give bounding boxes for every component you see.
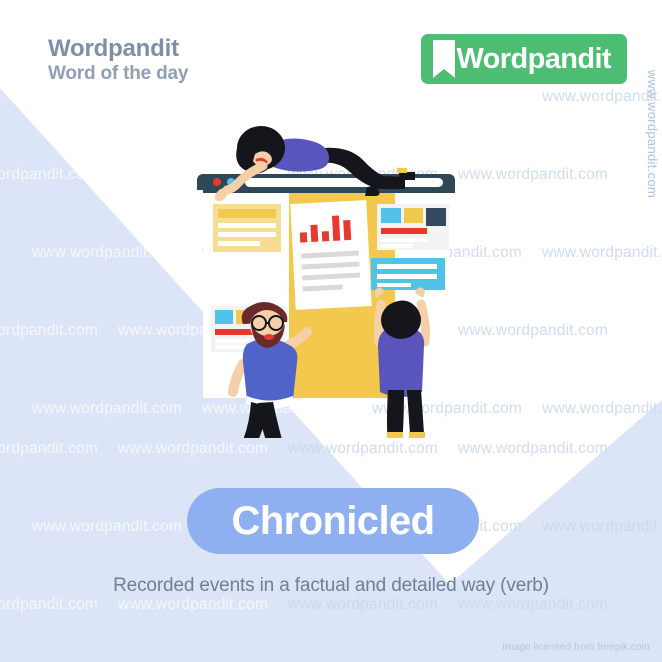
word-pill: Chronicled [187, 488, 479, 554]
page-title-group: Wordpandit Word of the day [48, 36, 188, 84]
word-of-the-day: Chronicled [232, 501, 435, 541]
word-of-the-day-card: www.wordpandit.com www.wordpandit.com ww… [0, 0, 662, 662]
person-back-facing [375, 288, 431, 438]
word-definition: Recorded events in a factual and detaile… [0, 575, 662, 597]
page-subtitle: Word of the day [48, 63, 188, 84]
image-attribution: Image licensed from freepik.com [502, 642, 650, 653]
page-title: Wordpandit [48, 36, 188, 62]
illustration [185, 118, 485, 438]
wordpandit-logo[interactable]: Wordpandit [421, 34, 627, 84]
bookmark-icon [431, 40, 457, 78]
logo-text: Wordpandit [456, 45, 611, 74]
